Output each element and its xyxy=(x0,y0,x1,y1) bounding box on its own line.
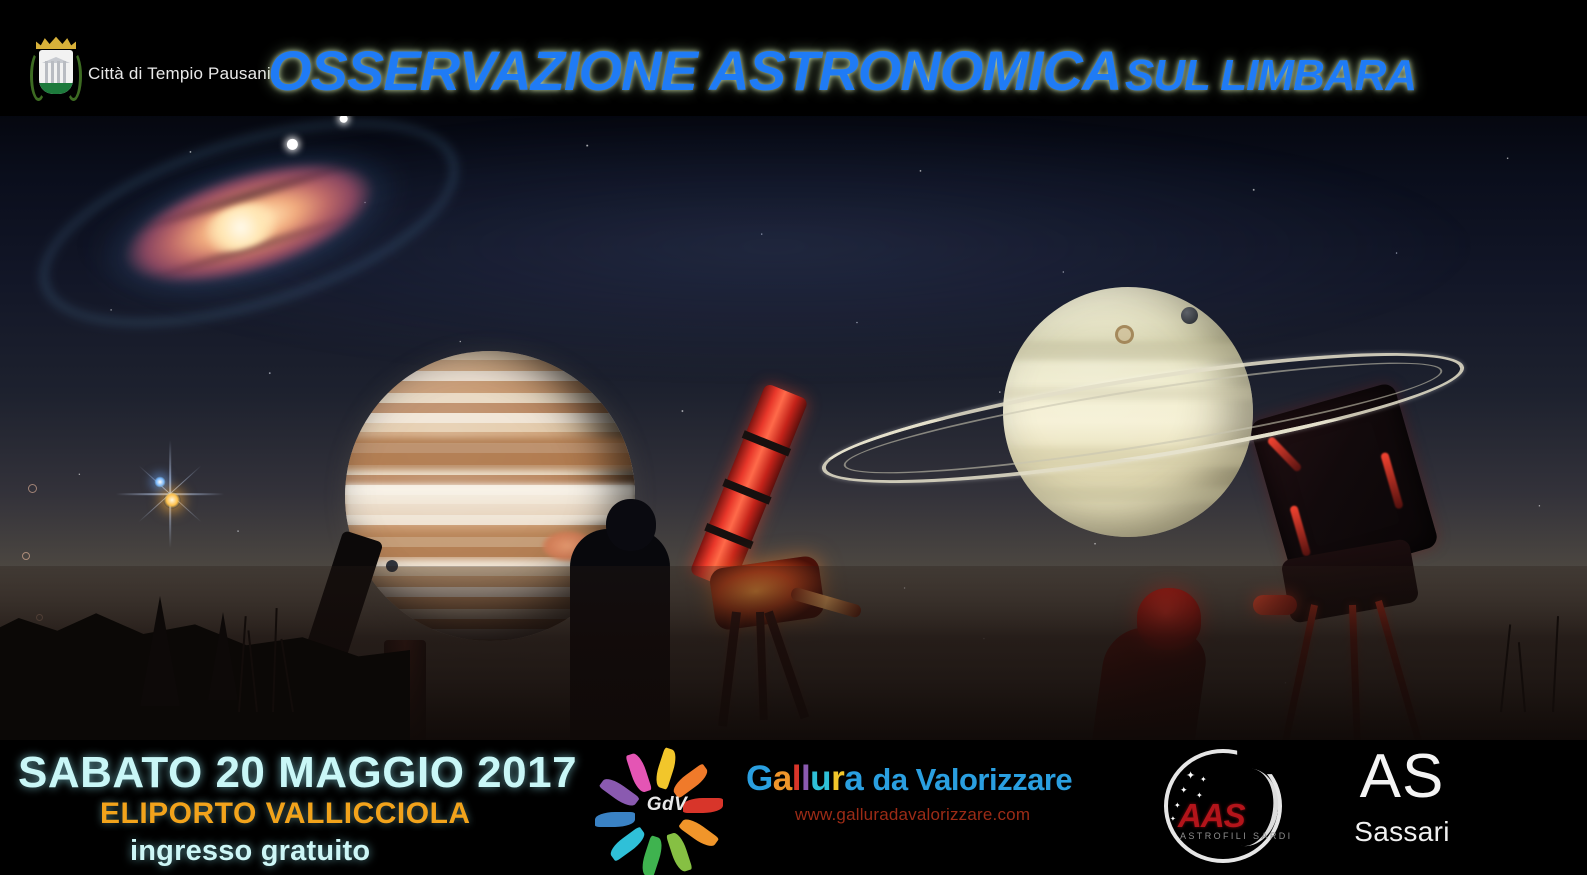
gallura-letter: u xyxy=(810,759,831,798)
double-star xyxy=(110,434,230,554)
saturn-moon xyxy=(1181,307,1198,324)
event-venue: ELIPORTO VALLICCIOLA xyxy=(100,797,471,831)
aas-subtitle: ASTROFILI SARDI xyxy=(1180,831,1293,841)
event-admission: ingresso gratuito xyxy=(130,835,370,868)
shrub-silhouette xyxy=(1552,616,1559,712)
aas-logo: ✦ ✦ ✦ ✦ ✦ ✦ AAS ASTROFILI SARDI xyxy=(1140,745,1320,867)
page-title: OSSERVAZIONE ASTRONOMICA SUL LIMBARA xyxy=(268,38,1416,103)
municipality-label: Città di Tempio Pausania xyxy=(88,64,281,84)
gdv-petal xyxy=(607,826,648,862)
gallura-letter: r xyxy=(831,759,844,798)
night-sky-scene xyxy=(0,114,1587,746)
hill-ridge-silhouette xyxy=(0,586,410,746)
star-icon: ✦ xyxy=(1200,775,1207,784)
saturn-body xyxy=(1003,287,1253,537)
gdv-petal xyxy=(595,812,635,827)
gdv-petal xyxy=(683,798,723,813)
saturn-storm-spot xyxy=(1115,325,1134,344)
shrub-silhouette xyxy=(1500,624,1511,712)
event-date: SABATO 20 MAGGIO 2017 xyxy=(18,748,577,798)
poster-root: Città di Tempio Pausania OSSERVAZIONE AS… xyxy=(0,0,1587,875)
gallura-letter: l xyxy=(792,759,801,798)
title-main: OSSERVAZIONE ASTRONOMICA xyxy=(268,39,1121,102)
aas-name: AAS xyxy=(1178,797,1245,835)
gallura-letter: a xyxy=(773,759,792,798)
blue-star xyxy=(154,476,166,488)
gallura-wordmark: Gallura da Valorizzare xyxy=(746,759,1072,799)
gallura-letter: G xyxy=(746,759,773,798)
gallura-logo-mark: GdV xyxy=(612,750,722,860)
gdv-monogram: GdV xyxy=(647,794,688,816)
conifer-silhouette xyxy=(208,612,238,700)
orange-star xyxy=(164,492,181,509)
star-icon: ✦ xyxy=(1180,785,1188,796)
gdv-petal xyxy=(625,751,652,794)
coat-of-arms-icon xyxy=(30,36,82,104)
gallura-suffix: da Valorizzare xyxy=(872,762,1072,797)
conifer-silhouette xyxy=(140,596,180,706)
star-icon: ✦ xyxy=(1170,815,1176,823)
star-icon: ✦ xyxy=(1186,769,1195,782)
header-banner: Città di Tempio Pausania OSSERVAZIONE AS… xyxy=(0,0,1587,116)
as-city: Sassari xyxy=(1322,816,1482,848)
gallura-letter: l xyxy=(801,759,810,798)
title-suffix: SUL LIMBARA xyxy=(1125,51,1416,100)
faint-star-ring xyxy=(22,552,30,560)
gallura-website-url[interactable]: www.galluradavalorizzare.com xyxy=(795,805,1030,825)
as-initials: AS xyxy=(1322,746,1482,808)
observer-head xyxy=(606,499,656,551)
gallura-letter: a xyxy=(844,759,863,798)
as-sassari-logo: AS Sassari xyxy=(1322,748,1482,866)
shrub-silhouette xyxy=(1518,642,1526,712)
foreground-ground xyxy=(0,566,1587,746)
faint-star-ring xyxy=(28,484,37,493)
